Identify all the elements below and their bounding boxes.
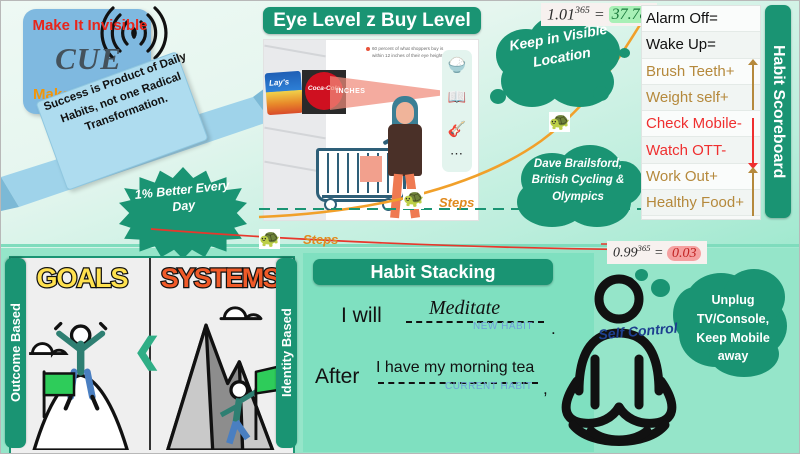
scoreboard-row-label: Brush Teeth+: [646, 63, 735, 80]
steps-label-decay: Steps: [303, 232, 338, 247]
decay-equals: =: [654, 246, 663, 261]
scoreboard-row-label: Work Out+: [646, 168, 718, 185]
goals-illustration: [15, 292, 153, 450]
scoreboard-row-label: Watch OTT-: [646, 142, 726, 159]
scoreboard-row-label: Check Mobile-: [646, 115, 742, 132]
scoreboard-row[interactable]: Weight self+: [642, 85, 760, 111]
scoreboard-row[interactable]: Wake Up=: [642, 32, 760, 58]
scoreboard-row-label: Alarm Off=: [646, 10, 718, 27]
scoreboard-row[interactable]: Work Out+: [642, 164, 760, 190]
scoreboard-row-label: Healthy Food+: [646, 194, 744, 211]
current-habit-caption: CURRENT HABIT: [445, 381, 532, 392]
habit-stacking-title: Habit Stacking: [313, 259, 553, 285]
shopper-body: [388, 124, 422, 176]
dave-brailsford-text: Dave Brailsford, British Cycling & Olymp…: [519, 156, 637, 205]
systems-illustration: [151, 292, 291, 450]
ellipsis-icon: ⋯: [446, 146, 468, 162]
scoreboard-row-label: Wake Up=: [646, 36, 716, 53]
identity-based-tab: Identity Based: [276, 258, 297, 448]
eye-level-illustration: Lay's Coca-Cola INCHES 60 percent of wha…: [263, 39, 479, 221]
trend-up-arrow-icon: [752, 172, 754, 216]
turtle-icon: 🐢: [259, 229, 280, 249]
scoreboard-row[interactable]: Check Mobile-: [642, 111, 760, 137]
period-mark: .: [551, 319, 556, 339]
bullet-dot-icon: [366, 47, 370, 51]
scoreboard-row-label: Weight self+: [646, 89, 729, 106]
growth-base: 1.01: [547, 6, 575, 23]
make-it-invisible-label: Make It Invisible: [15, 17, 165, 34]
turtle-icon: 🐢: [549, 112, 570, 132]
after-label: After: [315, 365, 359, 389]
arrow-head-icon: [748, 59, 758, 65]
chips-brand-label: Lay's: [269, 77, 290, 87]
decay-base: 0.99: [613, 246, 638, 261]
new-habit-caption: NEW HABIT: [473, 321, 533, 332]
decay-exponent: 365: [638, 243, 651, 253]
current-habit-value[interactable]: I have my morning tea: [376, 359, 534, 377]
inches-label: INCHES: [336, 88, 365, 95]
scoreboard-row[interactable]: Healthy Food+: [642, 190, 760, 216]
trend-down-arrow-icon: [752, 118, 754, 164]
scoreboard-row[interactable]: Brush Teeth+: [642, 59, 760, 85]
thought-bubble-dot: [619, 48, 630, 58]
comma-mark: ,: [543, 379, 548, 399]
cart-contents: [360, 156, 382, 182]
infographic-canvas: Make It Invisible CUE Make It Obvious Su…: [0, 0, 800, 454]
growth-exponent: 365: [575, 5, 590, 16]
outcome-based-tab: Outcome Based: [5, 258, 26, 448]
i-will-label: I will: [341, 304, 382, 328]
decay-formula: 0.99365 = 0.03: [607, 241, 707, 264]
goals-heading: GOALS: [19, 263, 145, 294]
scoreboard-row[interactable]: Watch OTT-: [642, 137, 760, 163]
arrow-head-icon: [748, 167, 758, 173]
cart-wheel: [324, 198, 337, 211]
decay-result: 0.03: [667, 246, 702, 261]
turtle-icon: 🐢: [403, 189, 424, 209]
shopper-face: [396, 102, 414, 124]
new-habit-value[interactable]: Meditate: [429, 297, 500, 320]
systems-heading: SYSTEMS: [153, 263, 287, 294]
scoreboard-row[interactable]: Alarm Off=: [642, 6, 760, 32]
growth-equals: =: [594, 6, 605, 23]
chevron-left-icon: ❮: [133, 331, 162, 371]
open-book-icon: 📖: [446, 88, 468, 106]
thought-bubble-dot: [593, 86, 609, 101]
guitar-icon: 🎸: [446, 120, 468, 138]
habit-scoreboard-list[interactable]: Alarm Off=Wake Up=Brush Teeth+Weight sel…: [641, 5, 761, 220]
steps-label-growth: Steps: [439, 195, 474, 210]
habit-scoreboard-tab: Habit Scoreboard: [765, 5, 791, 218]
eye-level-title: Eye Level z Buy Level: [263, 7, 481, 34]
fruit-bowl-icon: 🍚: [446, 56, 468, 74]
meditating-person-icon: [561, 271, 721, 454]
trend-up-arrow-icon: [752, 64, 754, 110]
growth-formula: 1.01365 = 37.78: [541, 3, 657, 26]
